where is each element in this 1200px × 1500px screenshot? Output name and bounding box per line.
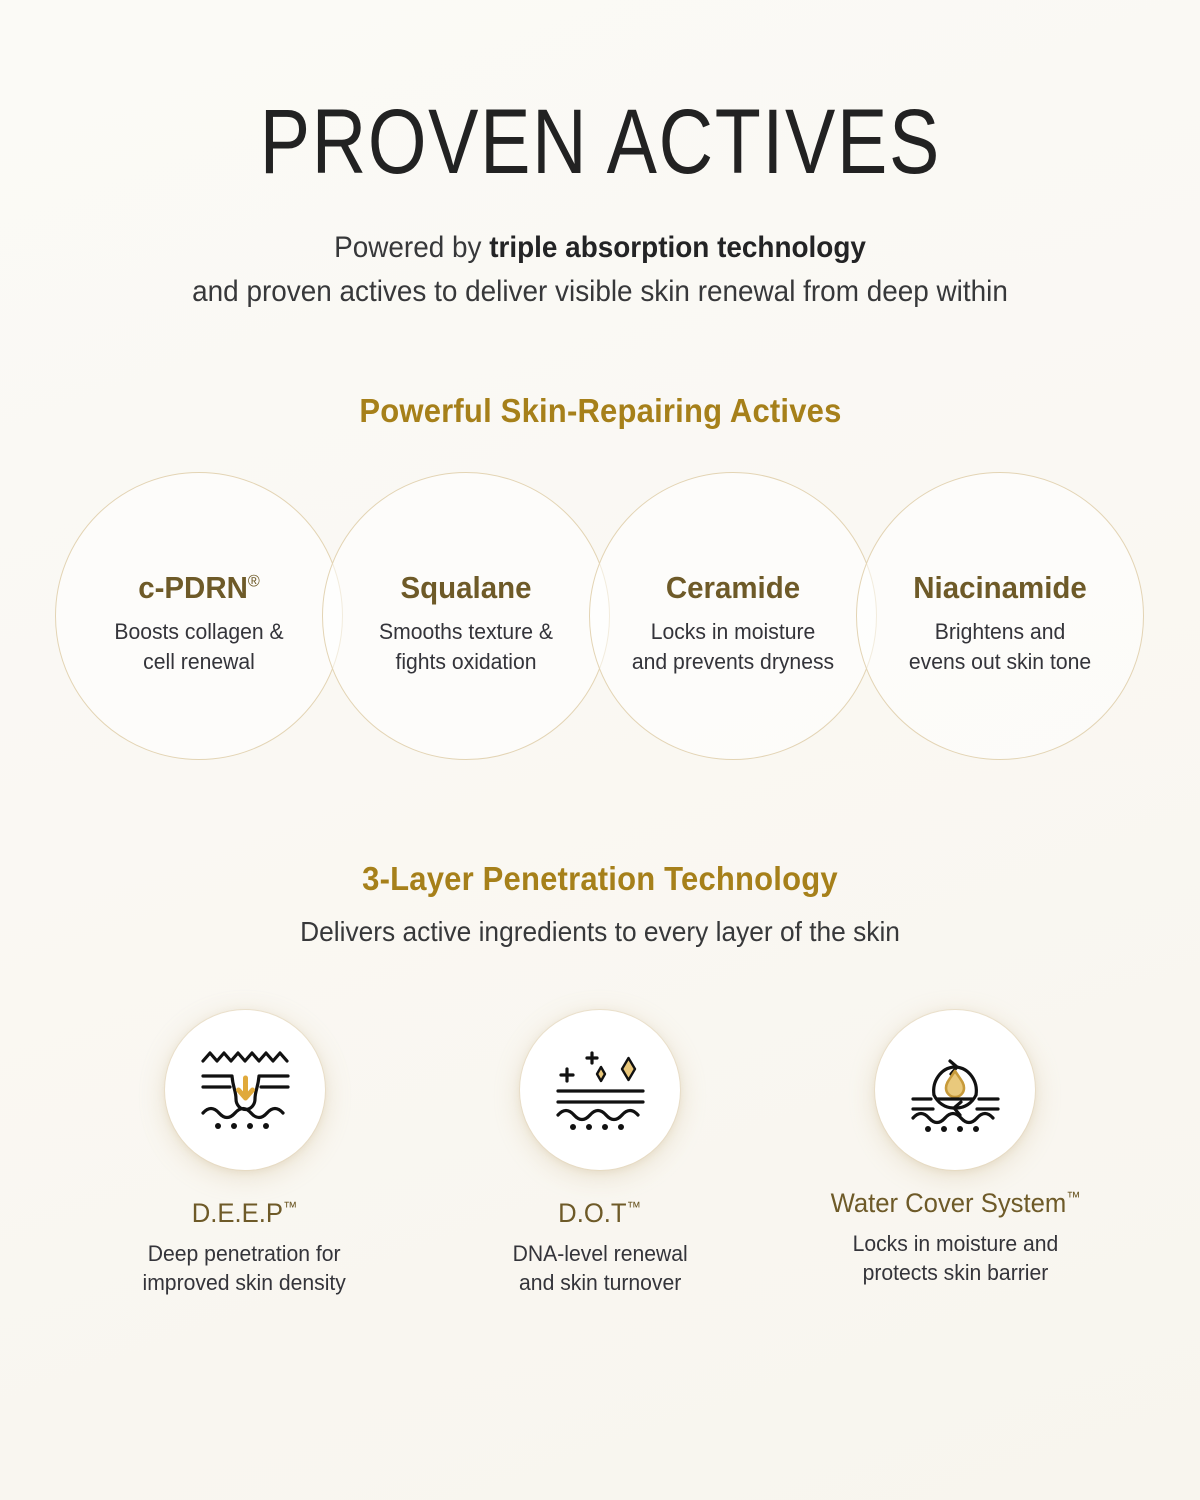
subtitle-emphasis: triple absorption technology [489,231,866,264]
subtitle-lead: Powered by [334,231,489,264]
trademark-mark-icon: ™ [283,1199,297,1216]
registered-mark-icon: ® [248,572,260,591]
technology-item-water-cover-system: Water Cover System™ Locks in moisture an… [811,1010,1100,1298]
active-content: Niacinamide Brightens and evens out skin… [865,556,1135,676]
technology-item-row: D.E.E.P™ Deep penetration for improved s… [100,1010,1100,1298]
active-content: c-PDRN® Boosts collagen & cell renewal [64,556,334,676]
technology-icon-badge [165,1010,325,1170]
active-name: c-PDRN® [71,570,328,606]
active-description: Locks in moisture and prevents dryness [606,617,860,676]
technology-name-text: D.O.T [559,1198,627,1228]
active-name-text: c-PDRN [138,570,248,605]
skin-sparkle-icon [552,1047,648,1133]
technology-icon-badge [520,1010,680,1170]
active-name: Ceramide [605,570,862,606]
active-circle-ceramide: Ceramide Locks in moisture and prevents … [589,472,877,760]
active-content: Ceramide Locks in moisture and prevents … [598,556,868,676]
technology-name-text: D.E.E.P [192,1198,283,1228]
technology-section-heading: 3-Layer Penetration Technology [362,860,838,898]
subtitle-rest: and proven actives to deliver visible sk… [192,275,1008,308]
skin-pore-arrow-icon [197,1047,293,1133]
page-title: PROVEN ACTIVES [259,96,940,188]
technology-item-dot: D.O.T™ DNA-level renewal and skin turnov… [455,1010,744,1298]
technology-name: Water Cover System™ [830,1188,1080,1219]
technology-name: D.E.E.P™ [192,1198,297,1229]
technology-icon-badge [875,1010,1035,1170]
active-circle-c-pdrn: c-PDRN® Boosts collagen & cell renewal [55,472,343,760]
water-droplet-cycle-icon [907,1047,1003,1133]
active-name-text: Squalane [401,570,532,605]
technology-section-subheading: Delivers active ingredients to every lay… [300,916,900,948]
active-content: Squalane Smooths texture & fights oxidat… [331,556,601,676]
active-name: Niacinamide [872,570,1129,606]
page-subtitle: Powered by triple absorption technology … [182,226,1019,314]
active-name-text: Niacinamide [913,570,1086,605]
active-description: Brightens and evens out skin tone [873,617,1127,676]
trademark-mark-icon: ™ [1066,1189,1080,1206]
active-description: Boosts collagen & cell renewal [72,617,326,676]
technology-description: Locks in moisture and protects skin barr… [852,1229,1058,1288]
active-name: Squalane [338,570,595,606]
technology-description: Deep penetration for improved skin densi… [143,1239,346,1298]
actives-circle-row: c-PDRN® Boosts collagen & cell renewal S… [55,472,1145,760]
active-circle-squalane: Squalane Smooths texture & fights oxidat… [322,472,610,760]
technology-description: DNA-level renewal and skin turnover [512,1239,687,1298]
technology-name: D.O.T™ [559,1198,642,1229]
active-circle-niacinamide: Niacinamide Brightens and evens out skin… [856,472,1144,760]
trademark-mark-icon: ™ [627,1199,641,1216]
infographic-page: PROVEN ACTIVES Powered by triple absorpt… [0,0,1200,1500]
actives-section-heading: Powerful Skin-Repairing Actives [359,392,841,430]
technology-item-deep: D.E.E.P™ Deep penetration for improved s… [100,1010,389,1298]
active-description: Smooths texture & fights oxidation [339,617,593,676]
active-name-text: Ceramide [666,570,800,605]
technology-name-text: Water Cover System [830,1188,1066,1218]
